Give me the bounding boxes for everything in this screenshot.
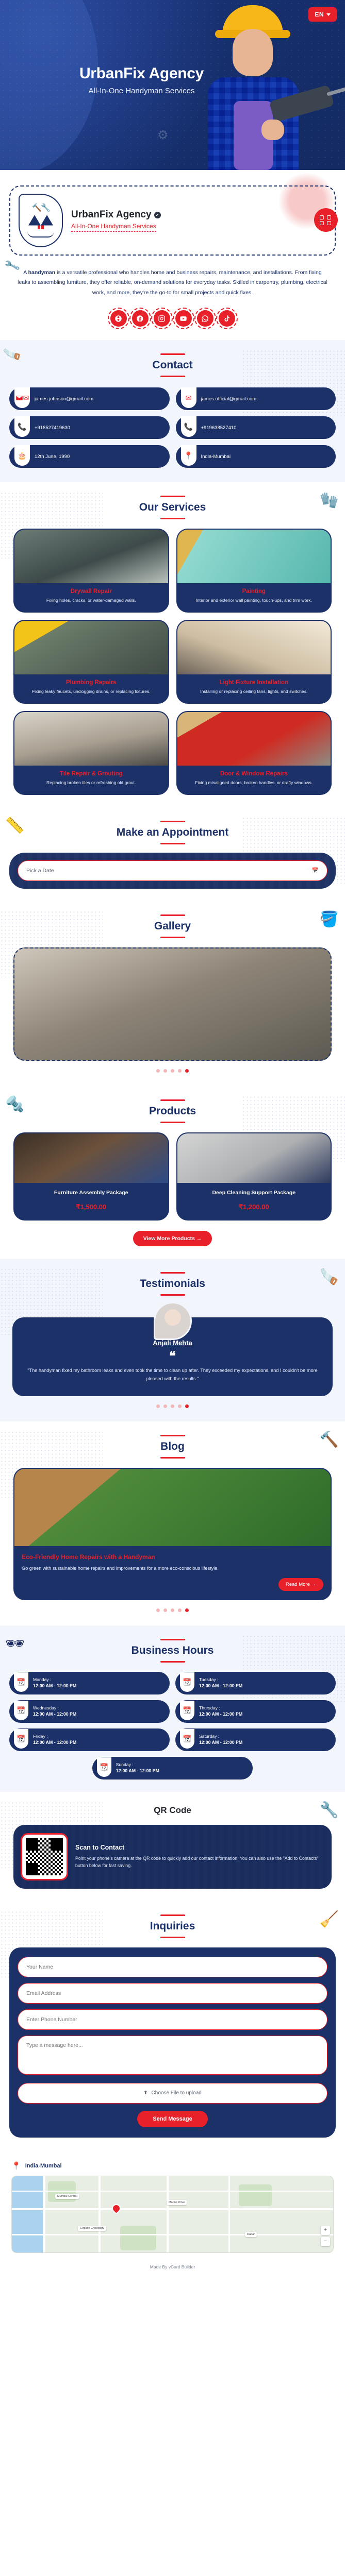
gallery-dot[interactable] [171, 1069, 174, 1073]
email-icon: ✉ [181, 387, 196, 408]
services-section: 🧤 Our Services Drywall Repair Fixing hol… [0, 482, 345, 807]
calendar-clock-icon: 📆 [14, 1729, 28, 1749]
language-selector-button[interactable]: EN [308, 7, 337, 22]
service-image [177, 712, 331, 766]
view-more-products-button[interactable]: View More Products → [133, 1231, 212, 1246]
file-upload-button[interactable]: ⬆ Choose File to upload [18, 2083, 327, 2104]
testimonial-dots [0, 1396, 345, 1409]
gallery-dot[interactable] [156, 1069, 160, 1073]
hours-time: 12:00 AM - 12:00 PM [199, 1683, 242, 1689]
hours-time: 12:00 AM - 12:00 PM [199, 1740, 242, 1746]
hours-day: Wednesday : [33, 1705, 76, 1711]
contact-value: +919638527410 [201, 425, 237, 431]
service-image [177, 530, 331, 583]
gallery-dots [0, 1061, 345, 1074]
business-hours-section: 🕶 Business Hours 📆 Monday : 12:00 AM - 1… [0, 1625, 345, 1792]
facebook-icon[interactable] [132, 310, 149, 327]
email-field[interactable] [18, 1983, 327, 2004]
testimonial-dot[interactable] [156, 1404, 160, 1408]
service-desc: Installing or replacing ceiling fans, li… [182, 688, 326, 696]
service-name: Painting [182, 588, 326, 595]
upload-icon: ⬆ [143, 2090, 147, 2096]
blog-dot[interactable] [178, 1608, 182, 1612]
calendar-icon[interactable]: 📅 [312, 867, 319, 874]
gear-icon: ⚙ [157, 128, 169, 143]
gallery-dot[interactable] [163, 1069, 167, 1073]
youtube-icon[interactable] [175, 310, 192, 327]
service-card[interactable]: Painting Interior and exterior wall pain… [176, 529, 332, 613]
map-place-label: Girgaon Chowpatty [78, 2226, 106, 2231]
map-marker[interactable] [111, 2204, 121, 2213]
blog-dot-active[interactable] [185, 1608, 189, 1612]
map-place-label: Marine Drive [167, 2200, 187, 2205]
service-image [14, 712, 168, 766]
about-text: is a versatile professional who handles … [18, 269, 327, 296]
message-field[interactable] [18, 2036, 327, 2075]
calendar-clock-icon: 📆 [180, 1729, 194, 1749]
testimonial-dot-active[interactable] [185, 1404, 189, 1408]
gallery-image[interactable] [13, 947, 332, 1061]
contact-value: 12th June, 1990 [35, 454, 70, 460]
product-name: Furniture Assembly Package [19, 1189, 164, 1197]
blog-dot[interactable] [163, 1608, 167, 1612]
website-icon[interactable] [110, 310, 127, 327]
calendar-clock-icon: 📆 [14, 1672, 28, 1692]
contact-item-location[interactable]: 📍 India-Mumbai [176, 445, 336, 468]
profile-card: 🔨🔧 UrbanFix Agency ✓ All-In-One Handyman… [9, 185, 336, 256]
hero-subtitle: All-In-One Handyman Services [0, 87, 283, 95]
hours-day: Friday : [33, 1734, 76, 1740]
appointment-section: 📏 Make an Appointment Pick a Date 📅 [0, 807, 345, 901]
service-desc: Fixing holes, cracks, or water-damaged w… [19, 597, 163, 604]
section-title-services: Our Services [0, 496, 345, 519]
map-place-label: Mumbai Central [55, 2194, 79, 2199]
service-card[interactable]: Door & Window Repairs Fixing misaligned … [176, 711, 332, 795]
instagram-icon[interactable] [154, 310, 170, 327]
service-card[interactable]: Tile Repair & Grouting Replacing broken … [13, 711, 169, 795]
service-card[interactable]: Drywall Repair Fixing holes, cracks, or … [13, 529, 169, 613]
hours-item-wednesday: 📆 Wednesday : 12:00 AM - 12:00 PM [9, 1700, 170, 1723]
social-links [0, 301, 345, 340]
blog-image [14, 1469, 331, 1546]
contact-item-phone-1[interactable]: 📞 +918527419630 [9, 416, 170, 439]
service-name: Light Fixture Installation [182, 680, 326, 686]
service-name: Tile Repair & Grouting [19, 771, 163, 777]
blog-dot[interactable] [171, 1608, 174, 1612]
hammer-wrench-icon: 🔨🔧 [32, 204, 49, 212]
hours-time: 12:00 AM - 12:00 PM [33, 1683, 76, 1689]
service-desc: Replacing broken tiles or refreshing old… [19, 779, 163, 787]
blog-card[interactable]: Eco-Friendly Home Repairs with a Handyma… [13, 1468, 332, 1600]
profile-tagline: All-In-One Handyman Services [71, 223, 156, 232]
about-lead: A [23, 269, 28, 276]
inquiries-section: 🧹 Inquiries ⬆ Choose File to upload Send… [0, 1901, 345, 2150]
section-title-inquiries: Inquiries [0, 1914, 345, 1938]
hours-time: 12:00 AM - 12:00 PM [116, 1768, 159, 1774]
qr-description: Point your phone's camera at the QR code… [75, 1855, 324, 1870]
appointment-band: Pick a Date 📅 [9, 853, 336, 889]
testimonial-author: Anjali Mehta [23, 1339, 322, 1347]
profile-section: 🔨🔧 UrbanFix Agency ✓ All-In-One Handyman… [0, 170, 345, 264]
map-header: 📍 India-Mumbai [0, 2150, 345, 2176]
product-card[interactable]: Deep Cleaning Support Package ₹1,200.00 [176, 1132, 332, 1221]
qr-section: 🔧 QR Code Scan to Contact Point your pho… [0, 1792, 345, 1901]
roof-shape-icon [28, 212, 53, 226]
section-title-testimonials: Testimonials [0, 1272, 345, 1296]
inquiry-form: ⬆ Choose File to upload Send Message [9, 1947, 336, 2138]
name-field[interactable] [18, 1957, 327, 1977]
profile-name: UrbanFix Agency [71, 209, 152, 221]
hours-item-sunday: 📆 Sunday : 12:00 AM - 12:00 PM [92, 1757, 253, 1780]
product-card[interactable]: Furniture Assembly Package ₹1,500.00 [13, 1132, 169, 1221]
testimonial-dot[interactable] [178, 1404, 182, 1408]
chevron-down-icon [326, 13, 331, 16]
hero-title: UrbanFix Agency [0, 65, 283, 82]
product-price: ₹1,500.00 [19, 1203, 164, 1211]
contact-item-birthday[interactable]: 🎂 12th June, 1990 [9, 445, 170, 468]
verified-check-icon: ✓ [154, 212, 161, 218]
contact-item-email-1[interactable]: ✉ james.johnson@gmail.com [9, 387, 170, 410]
profile-name-block: UrbanFix Agency ✓ All-In-One Handyman Se… [71, 209, 161, 232]
service-name: Plumbing Repairs [19, 680, 163, 686]
service-card[interactable]: Plumbing Repairs Fixing leaky faucets, u… [13, 620, 169, 704]
hours-day: Tuesday : [199, 1677, 242, 1683]
map-zoom-out-button[interactable]: − [321, 2237, 330, 2246]
map-location-label: India-Mumbai [25, 2163, 62, 2169]
phone-field[interactable] [18, 2009, 327, 2030]
hours-sunday-row: 📆 Sunday : 12:00 AM - 12:00 PM [0, 1751, 345, 1780]
products-grid: Furniture Assembly Package ₹1,500.00 Dee… [0, 1123, 345, 1221]
contact-value: +918527419630 [35, 425, 70, 431]
service-desc: Fixing misaligned doors, broken handles,… [182, 779, 326, 787]
tiktok-icon[interactable] [219, 310, 235, 327]
services-grid: Drywall Repair Fixing holes, cracks, or … [0, 519, 345, 794]
email-icon: ✉ [14, 387, 30, 408]
about-bold-word: handyman [28, 269, 56, 276]
about-section: 🔧 A handyman is a versatile professional… [0, 264, 345, 301]
section-title-contact: Contact [0, 353, 345, 377]
hours-day: Monday : [33, 1677, 76, 1683]
hours-item-tuesday: 📆 Tuesday : 12:00 AM - 12:00 PM [175, 1672, 336, 1694]
quote-mark-icon: ❝ [23, 1353, 322, 1360]
section-title-appointment: Make an Appointment [0, 821, 345, 844]
section-title-blog: Blog [0, 1435, 345, 1459]
calendar-clock-icon: 📆 [97, 1757, 111, 1777]
calendar-clock-icon: 📆 [180, 1672, 194, 1692]
map-zoom-in-button[interactable]: + [321, 2226, 330, 2235]
product-name: Deep Cleaning Support Package [182, 1189, 327, 1197]
map-section: 📍 India-Mumbai Mumbai Central Girgaon Ch… [0, 2150, 345, 2253]
hours-time: 12:00 AM - 12:00 PM [33, 1740, 76, 1746]
product-image [177, 1133, 331, 1183]
service-name: Door & Window Repairs [182, 771, 326, 777]
contact-value: India-Mumbai [201, 454, 231, 460]
calendar-clock-icon: 📆 [14, 1701, 28, 1720]
contact-item-phone-2[interactable]: 📞 +919638527410 [176, 416, 336, 439]
testimonial-block: Anjali Mehta ❝ "The handyman fixed my ba… [0, 1296, 345, 1397]
gallery-dot-active[interactable] [185, 1069, 189, 1073]
service-image [14, 530, 168, 583]
service-card[interactable]: Light Fixture Installation Installing or… [176, 620, 332, 704]
arc-shape [27, 231, 54, 238]
blog-post-desc: Go green with sustainable home repairs a… [22, 1565, 323, 1573]
service-image [177, 621, 331, 674]
phone-icon: 📞 [181, 416, 196, 437]
contact-value: james.official@gmail.com [201, 396, 257, 402]
product-price: ₹1,200.00 [182, 1203, 327, 1211]
gallery-section: 🪣 Gallery [0, 901, 345, 1086]
testimonials-section: 🪚 Testimonials Anjali Mehta ❝ "The handy… [0, 1259, 345, 1422]
avatar [154, 1302, 192, 1340]
hours-time: 12:00 AM - 12:00 PM [199, 1711, 242, 1718]
service-name: Drywall Repair [19, 588, 163, 595]
service-desc: Fixing leaky faucets, unclogging drains,… [19, 688, 163, 696]
blog-dot[interactable] [156, 1608, 160, 1612]
section-title-products: Products [0, 1099, 345, 1123]
hero-text-block: UrbanFix Agency All-In-One Handyman Serv… [0, 65, 345, 95]
whatsapp-icon[interactable] [197, 310, 213, 327]
hours-day: Thursday : [199, 1705, 242, 1711]
gallery-dot[interactable] [178, 1069, 182, 1073]
birthday-icon: 🎂 [14, 445, 30, 466]
calendar-clock-icon: 📆 [180, 1701, 194, 1720]
blog-section: 🔨 Blog Eco-Friendly Home Repairs with a … [0, 1421, 345, 1625]
hours-item-thursday: 📆 Thursday : 12:00 AM - 12:00 PM [175, 1700, 336, 1723]
read-more-button[interactable]: Read More → [278, 1578, 323, 1591]
section-title-qr: QR Code [0, 1805, 345, 1816]
testimonial-dot[interactable] [163, 1404, 167, 1408]
phone-icon: 📞 [14, 416, 30, 437]
date-placeholder: Pick a Date [26, 868, 54, 874]
contact-item-email-2[interactable]: ✉ james.official@gmail.com [176, 387, 336, 410]
blog-dots [0, 1600, 345, 1613]
product-image [14, 1133, 168, 1183]
section-title-gallery: Gallery [0, 914, 345, 938]
hours-grid: 📆 Monday : 12:00 AM - 12:00 PM 📆 Tuesday… [0, 1663, 345, 1751]
date-picker-field[interactable]: Pick a Date 📅 [18, 860, 327, 881]
hero-banner: EN UrbanFix Agency All-In-One Handyman S… [0, 0, 345, 170]
hours-item-saturday: 📆 Saturday : 12:00 AM - 12:00 PM [175, 1728, 336, 1751]
hours-item-friday: 📆 Friday : 12:00 AM - 12:00 PM [9, 1728, 170, 1751]
service-image [14, 621, 168, 674]
footer-text: Made By vCard Builder [150, 2264, 195, 2269]
products-section: 🔩 Products Furniture Assembly Package ₹1… [0, 1086, 345, 1259]
location-pin-icon: 📍 [11, 2161, 21, 2171]
hours-time: 12:00 AM - 12:00 PM [33, 1711, 76, 1718]
hours-day: Sunday : [116, 1762, 159, 1768]
contact-grid: ✉ james.johnson@gmail.com ✉ james.offici… [0, 377, 345, 470]
file-upload-label: Choose File to upload [152, 2090, 202, 2096]
send-message-button[interactable]: Send Message [137, 2111, 207, 2127]
grid-menu-icon[interactable] [314, 208, 338, 232]
section-title-hours: Business Hours [0, 1639, 345, 1663]
qr-heading: Scan to Contact [75, 1844, 324, 1851]
map-place-label: Dadar [245, 2232, 257, 2237]
qr-card: Scan to Contact Point your phone's camer… [13, 1825, 332, 1889]
qr-code-image[interactable] [21, 1833, 68, 1880]
blog-post-title: Eco-Friendly Home Repairs with a Handyma… [22, 1553, 323, 1561]
location-icon: 📍 [181, 445, 196, 466]
testimonial-dot[interactable] [171, 1404, 174, 1408]
contact-section: 🪚 Contact ✉ james.johnson@gmail.com ✉ ja… [0, 340, 345, 482]
language-label: EN [315, 11, 324, 18]
hours-day: Saturday : [199, 1734, 242, 1740]
contact-value: james.johnson@gmail.com [35, 396, 93, 402]
hours-item-monday: 📆 Monday : 12:00 AM - 12:00 PM [9, 1672, 170, 1694]
testimonial-text: "The handyman fixed my bathroom leaks an… [23, 1366, 322, 1383]
footer: Made By vCard Builder [0, 2253, 345, 2278]
service-desc: Interior and exterior wall painting, tou… [182, 597, 326, 604]
company-logo: 🔨🔧 [19, 194, 63, 247]
map-canvas[interactable]: Mumbai Central Girgaon Chowpatty Marine … [11, 2176, 334, 2253]
